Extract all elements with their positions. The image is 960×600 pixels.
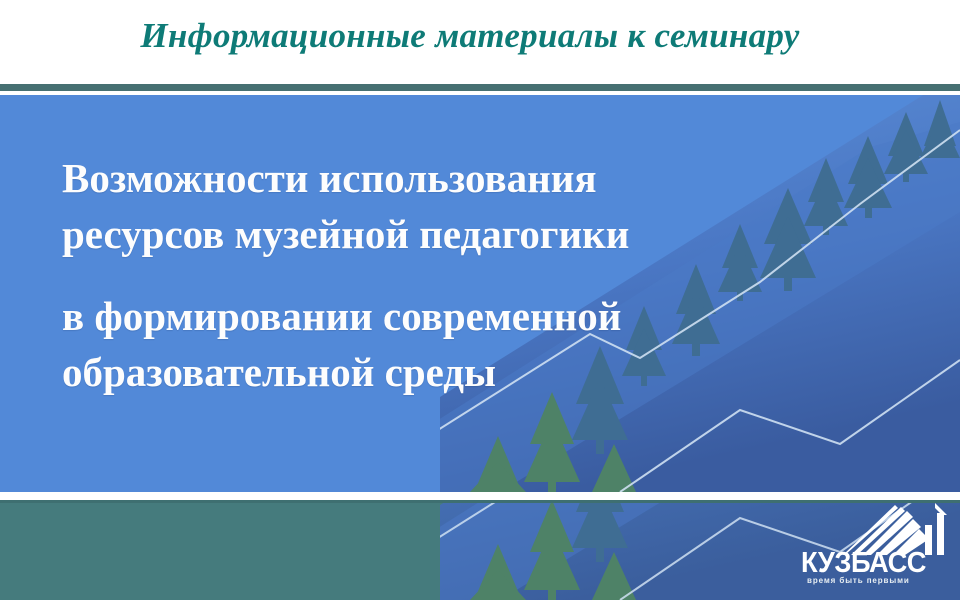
slide-root: Информационные материалы к семинару	[0, 0, 960, 600]
page-title: Информационные материалы к семинару	[0, 14, 940, 58]
kuzbass-logo: КУЗБАСС время быть первыми	[795, 503, 955, 588]
slide-title-block: Возможности использования ресурсов музей…	[0, 95, 960, 492]
title-line-3: в формировании современной	[62, 288, 920, 344]
title-line-1: Возможности использования	[62, 150, 920, 206]
footer-separator	[0, 492, 960, 500]
header-band: Информационные материалы к семинару	[0, 0, 960, 84]
kuzbass-tagline: время быть первыми	[807, 576, 955, 585]
title-line-4: образовательной среды	[62, 344, 920, 400]
kuzbass-wordmark: КУЗБАСС	[801, 549, 946, 578]
header-divider-rule	[0, 84, 960, 91]
title-line-2: ресурсов музейной педагогики	[62, 206, 920, 262]
